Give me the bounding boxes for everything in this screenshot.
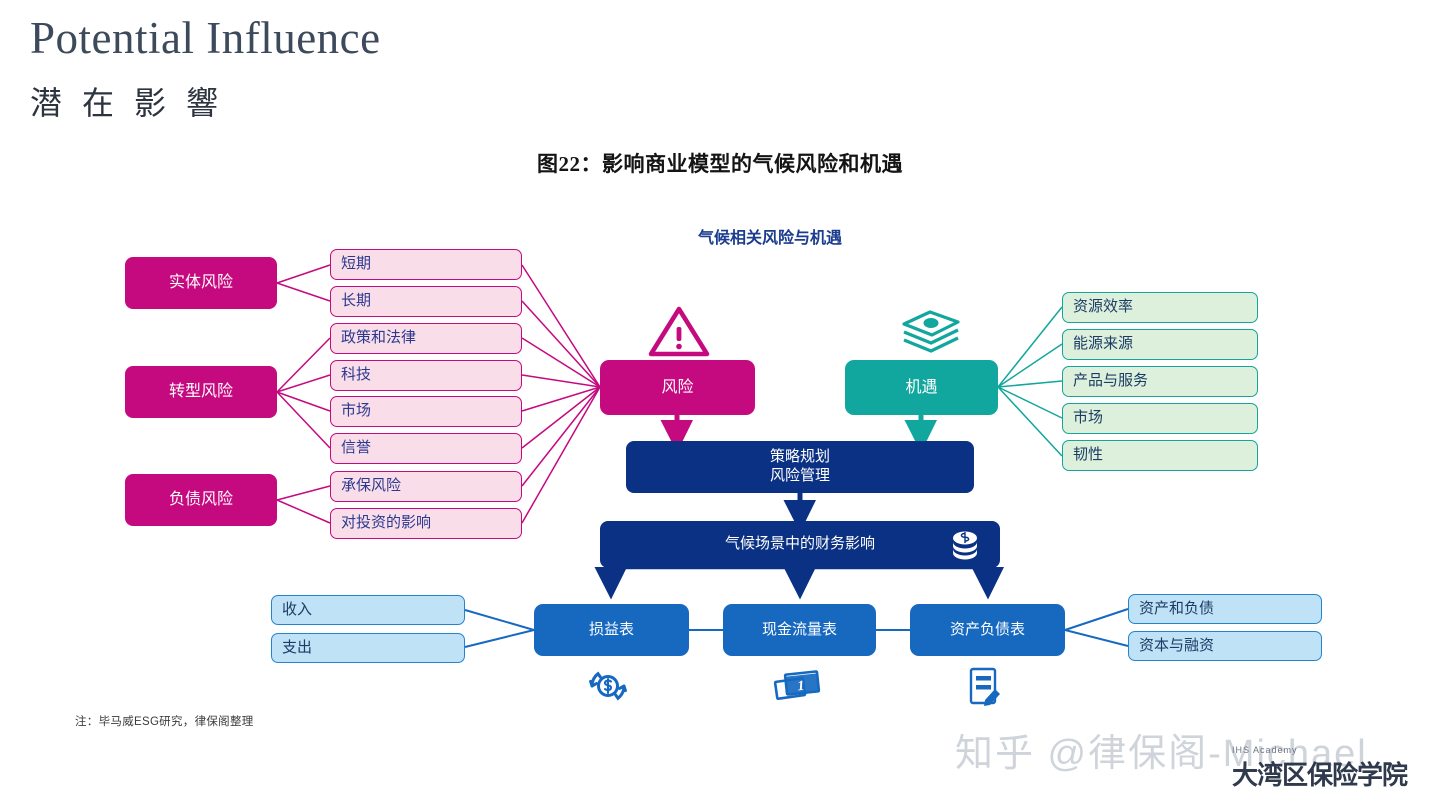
opportunity-item-resource-efficiency[interactable]: 资源效率 (1062, 292, 1258, 323)
coin-stack-icon (948, 529, 982, 566)
node-label: 对投资的影响 (341, 514, 431, 533)
node-label: 短期 (341, 255, 371, 274)
node-label: 实体风险 (169, 273, 233, 293)
node-label: 韧性 (1073, 446, 1103, 465)
node-label: 政策和法律 (341, 329, 416, 348)
document-edit-icon (967, 666, 1005, 713)
logo-title: 大湾区保险学院 (1232, 760, 1407, 790)
risk-item-technology[interactable]: 科技 (330, 360, 522, 391)
node-label: 负债风险 (169, 490, 233, 510)
node-label: 资产负债表 (950, 621, 1025, 640)
center-heading: 气候相关风险与机遇 (640, 224, 900, 248)
node-label: 长期 (341, 292, 371, 311)
node-label: 支出 (282, 639, 312, 658)
node-balance-sheet[interactable]: 资产负债表 (910, 604, 1065, 656)
dollar-cycle-icon (587, 665, 629, 712)
node-label: 资产和负债 (1139, 600, 1214, 619)
node-risk[interactable]: 风险 (600, 360, 755, 415)
source-footnote: 注：毕马威ESG研究，律保阁整理 (75, 713, 254, 729)
node-label: 信誉 (341, 439, 371, 458)
node-label-line1: 策略规划 (770, 448, 830, 467)
risk-item-short-term[interactable]: 短期 (330, 249, 522, 280)
logo-subtitle: IHS Academy (1232, 745, 1407, 755)
node-label: 能源来源 (1073, 335, 1133, 354)
node-label: 损益表 (589, 621, 634, 640)
risk-item-underwriting[interactable]: 承保风险 (330, 471, 522, 502)
node-label: 转型风险 (169, 382, 233, 402)
risk-item-long-term[interactable]: 长期 (330, 286, 522, 317)
node-opportunity[interactable]: 机遇 (845, 360, 998, 415)
node-label: 机遇 (905, 378, 937, 398)
income-item-revenue[interactable]: 收入 (271, 595, 465, 625)
node-label: 资源效率 (1073, 298, 1133, 317)
node-label: 科技 (341, 366, 371, 385)
risk-item-policy-legal[interactable]: 政策和法律 (330, 323, 522, 354)
balance-item-capital-financing[interactable]: 资本与融资 (1128, 631, 1322, 661)
node-label: 市场 (1073, 409, 1103, 428)
balance-item-assets-liabilities[interactable]: 资产和负债 (1128, 594, 1322, 624)
opportunity-item-products-services[interactable]: 产品与服务 (1062, 366, 1258, 397)
risk-category-transition[interactable]: 转型风险 (125, 366, 277, 418)
node-label: 收入 (282, 601, 312, 620)
node-label: 市场 (341, 402, 371, 421)
opportunity-item-resilience[interactable]: 韧性 (1062, 440, 1258, 471)
node-financial-impact[interactable]: 气候场景中的财务影响 (600, 521, 1000, 568)
risk-category-liability[interactable]: 负债风险 (125, 474, 277, 526)
banknotes-icon: 1 (773, 666, 825, 711)
node-label: 现金流量表 (762, 621, 837, 640)
node-label: 气候场景中的财务影响 (725, 535, 875, 554)
node-label: 承保风险 (341, 477, 401, 496)
opportunity-item-energy-source[interactable]: 能源来源 (1062, 329, 1258, 360)
flow-diagram: 气候相关风险与机遇 实体风险 转型风险 负债风险 短期 长期 政策和法律 科技 … (0, 0, 1440, 808)
academy-logo: IHS Academy 大湾区保险学院 (1232, 747, 1407, 792)
opportunity-item-market[interactable]: 市场 (1062, 403, 1258, 434)
money-stack-icon (898, 306, 964, 363)
node-label: 产品与服务 (1073, 372, 1148, 391)
node-strategy-risk-management[interactable]: 策略规划 风险管理 (626, 441, 974, 493)
risk-item-reputation[interactable]: 信誉 (330, 433, 522, 464)
risk-category-physical[interactable]: 实体风险 (125, 257, 277, 309)
node-label: 资本与融资 (1139, 637, 1214, 656)
risk-item-market[interactable]: 市场 (330, 396, 522, 427)
risk-item-investment-impact[interactable]: 对投资的影响 (330, 508, 522, 539)
node-cash-flow-statement[interactable]: 现金流量表 (723, 604, 876, 656)
warning-triangle-icon (648, 305, 710, 362)
income-item-expense[interactable]: 支出 (271, 633, 465, 663)
node-label-line2: 风险管理 (770, 467, 830, 486)
node-label: 风险 (661, 378, 693, 398)
node-income-statement[interactable]: 损益表 (534, 604, 689, 656)
